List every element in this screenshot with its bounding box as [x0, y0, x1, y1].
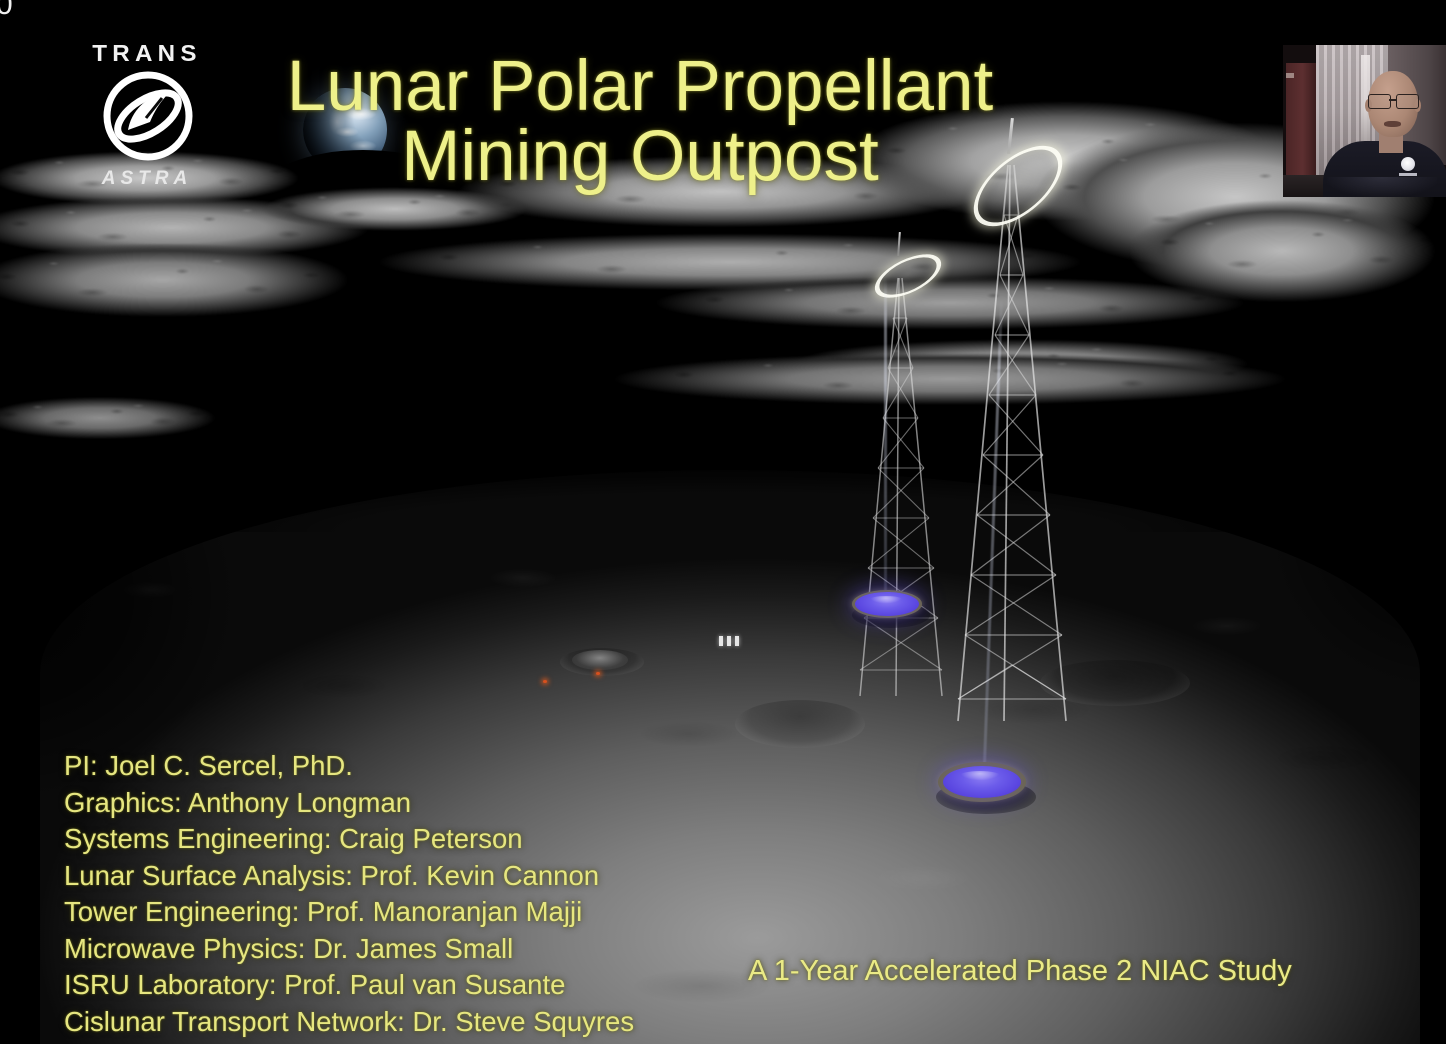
equipment-indicator-light [596, 672, 600, 675]
surface-depression [735, 700, 865, 748]
transastra-logo-icon [1399, 157, 1417, 179]
microwave-beam-left [884, 278, 887, 600]
credits-list: PI: Joel C. Sercel, PhD. Graphics: Antho… [64, 748, 634, 1040]
surface-marker [727, 636, 731, 646]
credit-line: Lunar Surface Analysis: Prof. Kevin Cann… [64, 858, 634, 895]
surface-marker [719, 636, 723, 646]
eyeglasses [1367, 94, 1419, 107]
surface-marker [735, 636, 739, 646]
credit-line: Systems Engineering: Craig Peterson [64, 821, 634, 858]
presenter-video-feed[interactable] [1283, 45, 1446, 197]
presenter-mouth [1384, 121, 1401, 127]
pool-specular-sheen [869, 596, 903, 604]
lunar-ridge-band [0, 396, 220, 440]
regolith-texture [0, 396, 220, 440]
presentation-slide: TRANS ASTRA Lunar Polar Propellant Minin… [0, 0, 1446, 1044]
corner-stray-glyph: 0 [0, 0, 13, 20]
pool-specular-sheen [959, 771, 1001, 781]
credit-line: Microwave Physics: Dr. James Small [64, 931, 634, 968]
study-note: A 1-Year Accelerated Phase 2 NIAC Study [748, 955, 1292, 988]
screen: TRANS ASTRA Lunar Polar Propellant Minin… [0, 0, 1446, 1044]
crater-wall-shadow-right [1146, 470, 1446, 770]
logo-wordmark-bar [1399, 173, 1417, 176]
credit-line: Graphics: Anthony Longman [64, 785, 634, 822]
eyeglass-bridge [1389, 99, 1396, 101]
slide-title: Lunar Polar Propellant Mining Outpost [0, 52, 1280, 191]
surface-equipment-cluster [572, 650, 628, 670]
shoulder-highlight [1327, 177, 1437, 197]
credit-line: Tower Engineering: Prof. Manoranjan Majj… [64, 894, 634, 931]
eyeglass-lens [1396, 94, 1419, 109]
logo-glyph [1401, 157, 1415, 171]
lunar-ridge-band [0, 244, 350, 322]
credit-line: PI: Joel C. Sercel, PhD. [64, 748, 634, 785]
lattice-tower-right [938, 165, 1088, 725]
equipment-indicator-light [543, 680, 547, 683]
regolith-texture [0, 244, 350, 322]
credit-line: ISRU Laboratory: Prof. Paul van Susante [64, 967, 634, 1004]
credit-line: Cislunar Transport Network: Dr. Steve Sq… [64, 1004, 634, 1041]
door-panel [1286, 63, 1316, 181]
door-trim [1286, 73, 1294, 78]
eyeglass-lens [1368, 94, 1391, 109]
